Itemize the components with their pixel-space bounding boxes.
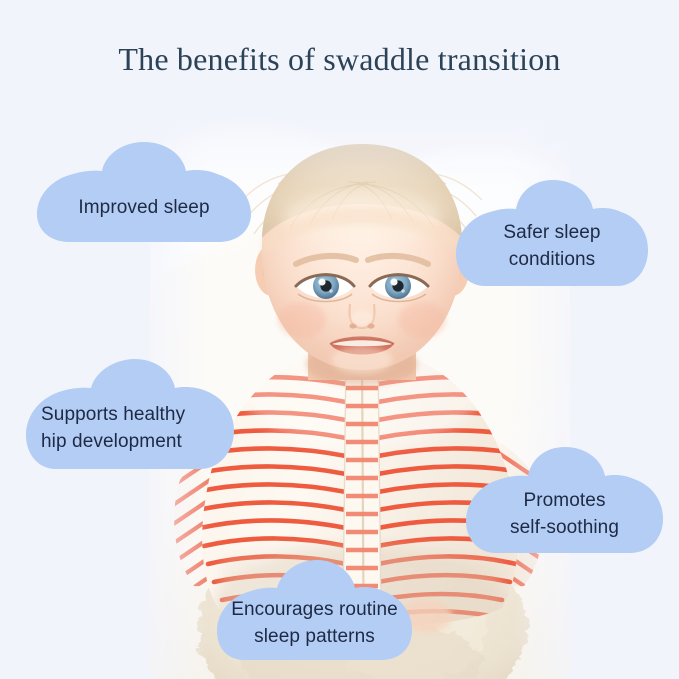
cloud-sleep-patterns: Encourages routine sleep patterns	[213, 556, 416, 664]
cloud-shape-icon	[33, 138, 255, 246]
infographic-card: The benefits of swaddle transition	[0, 0, 679, 679]
cloud-self-soothing: Promotes self-soothing	[462, 443, 667, 557]
page-title: The benefits of swaddle transition	[0, 41, 679, 78]
cloud-label-sleep-patterns: Encourages routine sleep patterns	[213, 596, 416, 650]
cloud-label-improved-sleep: Improved sleep	[33, 194, 255, 221]
cloud-label-hip-development: Supports healthy hip development	[22, 401, 257, 455]
cloud-hip-development: Supports healthy hip development	[22, 355, 238, 473]
cloud-label-self-soothing: Promotes self-soothing	[462, 487, 667, 541]
cloud-label-safer-sleep: Safer sleep conditions	[452, 219, 652, 273]
cloud-safer-sleep: Safer sleep conditions	[452, 176, 652, 290]
cloud-improved-sleep: Improved sleep	[33, 138, 255, 246]
